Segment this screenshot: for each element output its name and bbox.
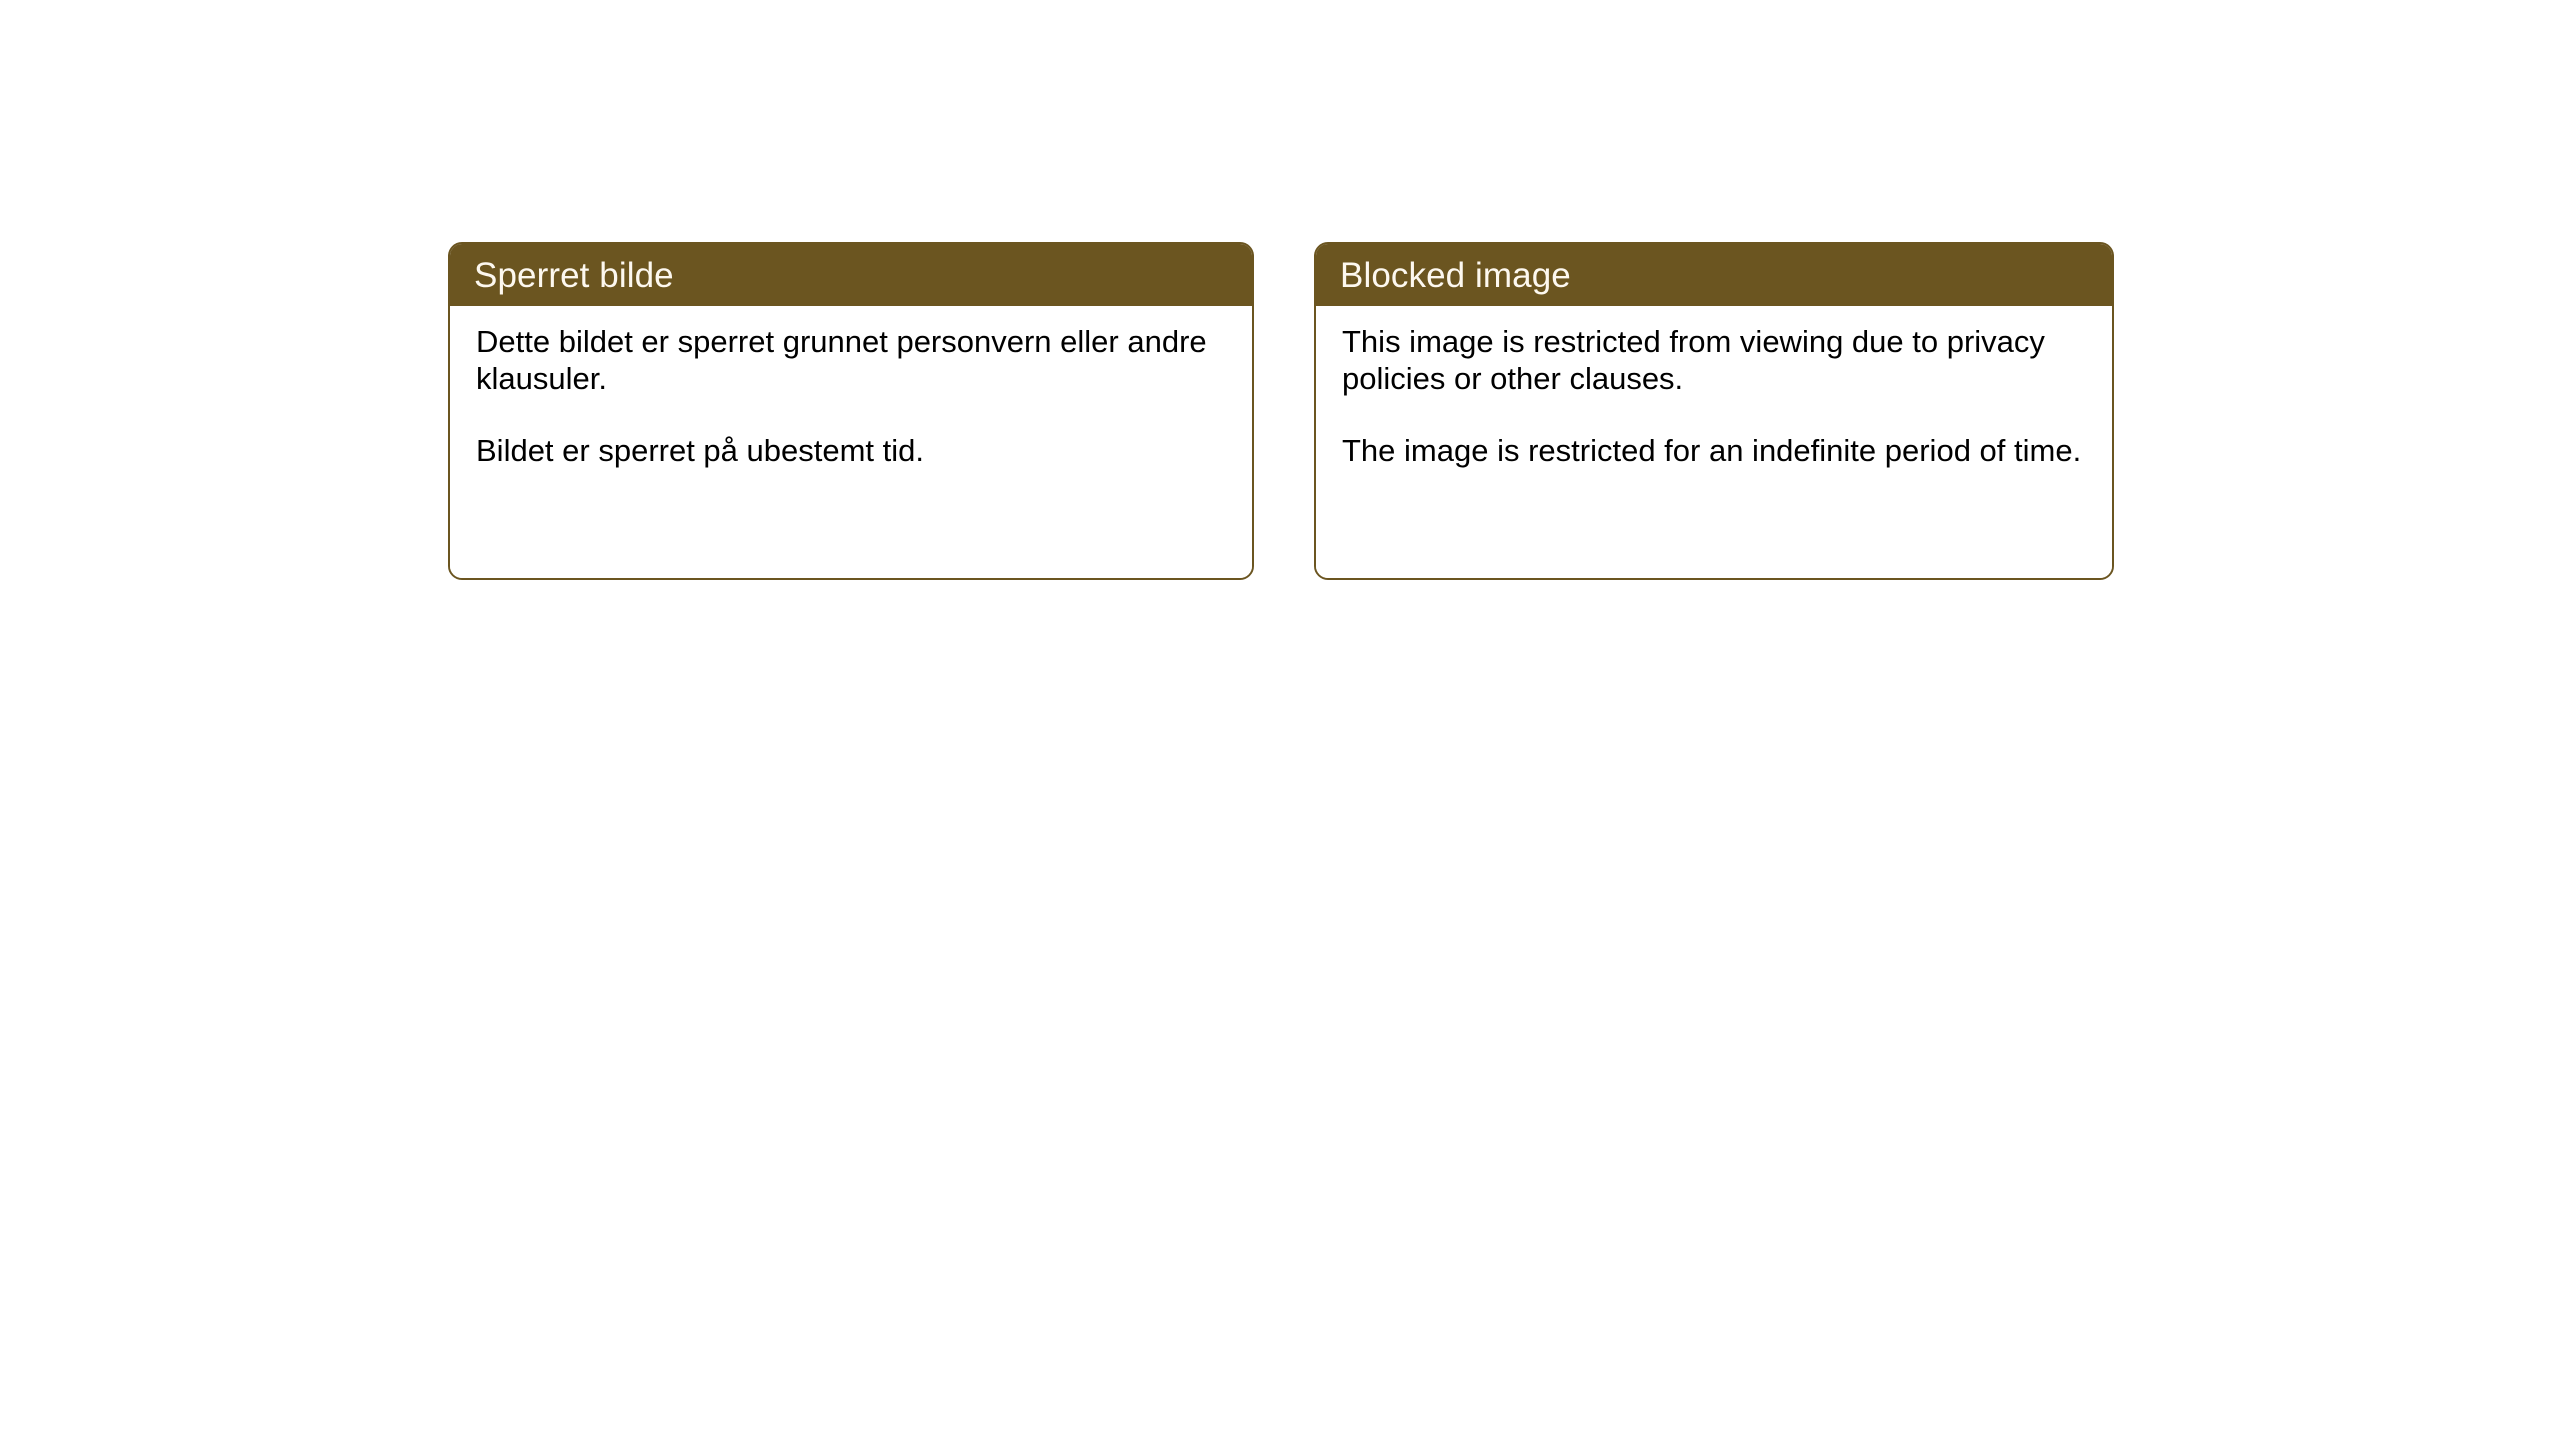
- blocked-image-notice-card-norwegian: Sperret bilde Dette bildet er sperret gr…: [448, 242, 1254, 580]
- blocked-image-notice-card-english: Blocked image This image is restricted f…: [1314, 242, 2114, 580]
- card-paragraph-primary-norwegian: Dette bildet er sperret grunnet personve…: [476, 324, 1226, 397]
- card-title-norwegian: Sperret bilde: [474, 258, 674, 293]
- card-paragraph-secondary-english: The image is restricted for an indefinit…: [1342, 433, 2086, 470]
- card-body-english: This image is restricted from viewing du…: [1316, 306, 2112, 578]
- card-paragraph-secondary-norwegian: Bildet er sperret på ubestemt tid.: [476, 433, 1226, 470]
- card-paragraph-primary-english: This image is restricted from viewing du…: [1342, 324, 2086, 397]
- card-body-norwegian: Dette bildet er sperret grunnet personve…: [450, 306, 1252, 578]
- card-header-norwegian: Sperret bilde: [450, 244, 1252, 306]
- page-canvas: Sperret bilde Dette bildet er sperret gr…: [0, 0, 2560, 1440]
- card-header-english: Blocked image: [1316, 244, 2112, 306]
- card-title-english: Blocked image: [1340, 258, 1571, 293]
